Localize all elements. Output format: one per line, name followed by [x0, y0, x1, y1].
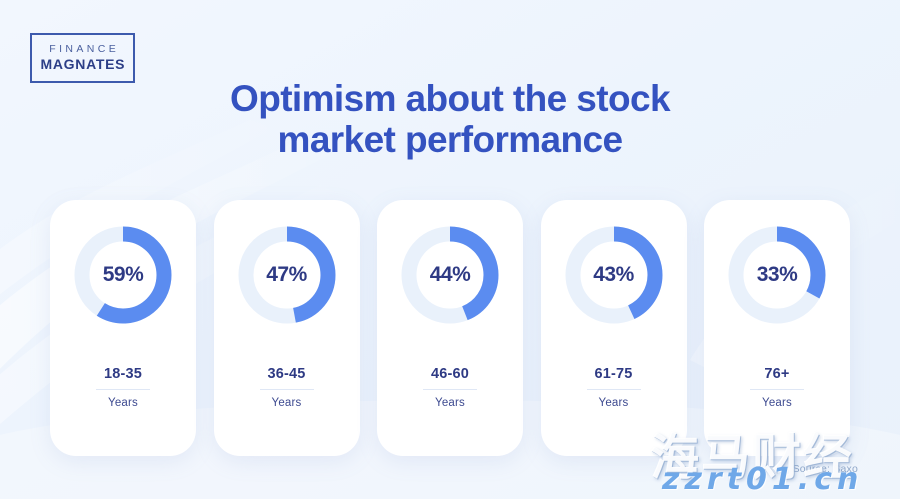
finance-magnates-logo: FINANCE MAGNATES [30, 33, 135, 83]
age-range-label: 36-45 [267, 366, 305, 382]
donut-percent-label: 59% [74, 226, 172, 324]
age-range-label: 76+ [764, 366, 789, 382]
card-divider [750, 389, 804, 390]
years-unit-label: Years [599, 397, 629, 409]
logo-line-finance: FINANCE [46, 43, 119, 56]
card-divider [260, 389, 314, 390]
card-divider [587, 389, 641, 390]
donut-card: 47%36-45Years [214, 200, 360, 456]
donut-percent-label: 44% [401, 226, 499, 324]
donut-chart: 44% [401, 226, 499, 324]
watermark-url: zzrt01.cn [662, 462, 863, 497]
logo-line-magnates: MAGNATES [40, 56, 125, 73]
donut-percent-label: 43% [565, 226, 663, 324]
donut-chart: 33% [728, 226, 826, 324]
donut-percent-label: 33% [728, 226, 826, 324]
age-range-label: 61-75 [594, 366, 632, 382]
card-divider [423, 389, 477, 390]
years-unit-label: Years [762, 397, 792, 409]
years-unit-label: Years [435, 397, 465, 409]
donut-chart: 47% [238, 226, 336, 324]
years-unit-label: Years [272, 397, 302, 409]
donut-percent-label: 47% [238, 226, 336, 324]
page-title-line-2: market performance [0, 119, 900, 160]
donut-chart: 43% [565, 226, 663, 324]
card-divider [96, 389, 150, 390]
age-range-label: 46-60 [431, 366, 469, 382]
page-title-line-1: Optimism about the stock [0, 78, 900, 119]
donut-card: 44%46-60Years [377, 200, 523, 456]
page-title: Optimism about the stock market performa… [0, 78, 900, 161]
age-range-label: 18-35 [104, 366, 142, 382]
donut-chart: 59% [74, 226, 172, 324]
donut-card: 59%18-35Years [50, 200, 196, 456]
years-unit-label: Years [108, 397, 138, 409]
